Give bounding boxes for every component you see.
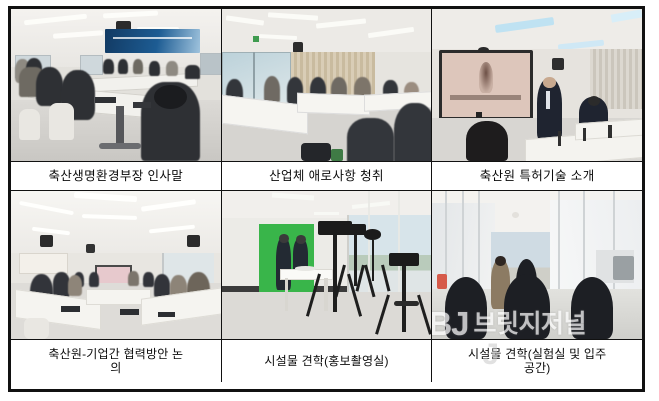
- caption-text-5: 시설물 견학(홍보촬영실): [261, 354, 391, 368]
- caption-text-6: 시설물 견학(실험실 및 입주 공간): [465, 347, 609, 375]
- photo-presentation-display: [432, 9, 642, 161]
- photo-row-2: BJ 브릿지저널: [11, 191, 642, 339]
- photo-wide-conference-discussion: [11, 191, 221, 339]
- photo-row-1: [11, 9, 642, 161]
- caption-text-3: 축산원 특허기술 소개: [477, 169, 598, 184]
- photo-glass-corridor-tour: BJ 브릿지저널: [432, 191, 642, 339]
- caption-cell-1: 축산생명환경부장 인사말: [11, 161, 222, 191]
- caption-text-1: 축산생명환경부장 인사말: [45, 169, 186, 184]
- photo-green-screen-studio: [222, 191, 432, 339]
- photo-meeting-room-attendees: [222, 9, 432, 161]
- photo-cell-2[interactable]: [222, 9, 433, 161]
- caption-text-2: 산업체 애로사항 청취: [266, 169, 387, 184]
- photo-cell-4[interactable]: [11, 191, 222, 339]
- caption-row-2: 축산원-기업간 협력방안 논 의 시설물 견학(홍보촬영실) 시설물 견학(실험…: [11, 339, 642, 382]
- photo-conference-room-meeting: [11, 9, 221, 161]
- caption-cell-5: 시설물 견학(홍보촬영실): [222, 339, 433, 382]
- caption-cell-6: 시설물 견학(실험실 및 입주 공간) J: [432, 339, 642, 382]
- caption-text-4: 축산원-기업간 협력방안 논 의: [45, 347, 186, 375]
- photo-cell-1[interactable]: [11, 9, 222, 161]
- photo-grid-table: 축산생명환경부장 인사말 산업체 애로사항 청취 축산원 특허기술 소개: [8, 6, 645, 392]
- caption-row-1: 축산생명환경부장 인사말 산업체 애로사항 청취 축산원 특허기술 소개: [11, 161, 642, 191]
- caption-cell-3: 축산원 특허기술 소개: [432, 161, 642, 191]
- photo-cell-5[interactable]: [222, 191, 433, 339]
- photo-cell-3[interactable]: [432, 9, 642, 161]
- photo-grid-sheet: 축산생명환경부장 인사말 산업체 애로사항 청취 축산원 특허기술 소개: [0, 0, 659, 401]
- caption-cell-4: 축산원-기업간 협력방안 논 의: [11, 339, 222, 382]
- caption-cell-2: 산업체 애로사항 청취: [222, 161, 433, 191]
- photo-cell-6[interactable]: BJ 브릿지저널: [432, 191, 642, 339]
